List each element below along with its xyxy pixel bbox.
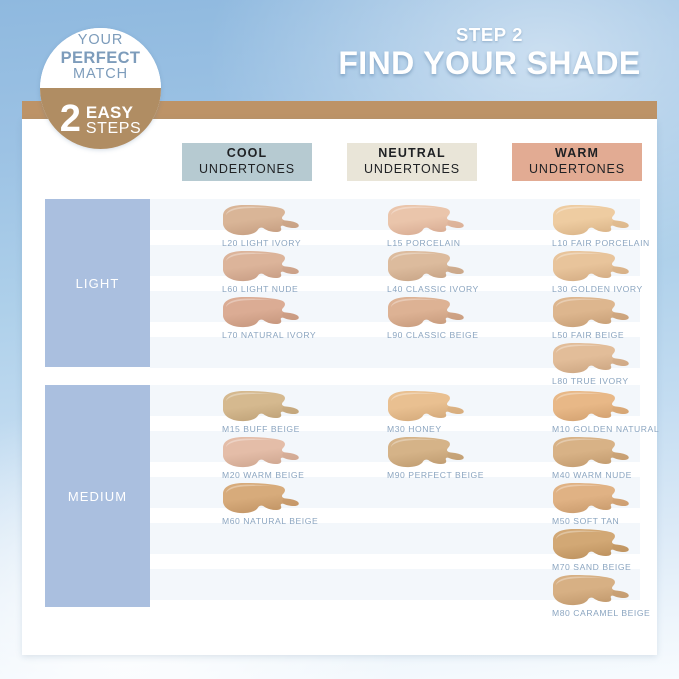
shade-cell-l20[interactable]: L20 LIGHT IVORY [212,204,362,248]
column-header-neutral: NEUTRALUNDERTONES [347,143,477,181]
foundation-swatch-shape [385,296,477,329]
shade-cell-m90[interactable]: M90 PERFECT BEIGE [377,436,527,480]
shade-label: L70 NATURAL IVORY [222,330,362,340]
swatch-m40 [550,436,642,469]
shade-cell-m70[interactable]: M70 SAND BEIGE [542,528,679,572]
swatch-l50 [550,296,642,329]
shade-cell-l10[interactable]: L10 FAIR PORCELAIN [542,204,679,248]
badge-line-steps: STEPS [86,121,141,137]
swatch-m30 [385,390,477,423]
shade-label: L90 CLASSIC BEIGE [387,330,527,340]
foundation-swatch-shape [385,390,477,423]
swatch-m15 [220,390,312,423]
column-header-sub: UNDERTONES [529,162,625,178]
foundation-swatch-shape [385,250,477,283]
swatch-l40 [385,250,477,283]
swatch-l60 [220,250,312,283]
shade-label: L50 FAIR BEIGE [552,330,679,340]
shade-label: M80 CARAMEL BEIGE [552,608,679,618]
shade-label: M60 NATURAL BEIGE [222,516,362,526]
swatch-l80 [550,342,642,375]
swatch-l70 [220,296,312,329]
column-header-cool: COOLUNDERTONES [182,143,312,181]
shade-label: M40 WARM NUDE [552,470,679,480]
swatch-m80 [550,574,642,607]
swatch-l90 [385,296,477,329]
shade-cell-l50[interactable]: L50 FAIR BEIGE [542,296,679,340]
shade-cell-l60[interactable]: L60 LIGHT NUDE [212,250,362,294]
shade-label: M15 BUFF BEIGE [222,424,362,434]
shade-cell-l90[interactable]: L90 CLASSIC BEIGE [377,296,527,340]
foundation-swatch-shape [550,436,642,469]
column-header-warm: WARMUNDERTONES [512,143,642,181]
shade-cell-l40[interactable]: L40 CLASSIC IVORY [377,250,527,294]
column-header-name: WARM [555,146,599,162]
shade-cell-m30[interactable]: M30 HONEY [377,390,527,434]
shade-label: M10 GOLDEN NATURAL [552,424,679,434]
shade-label: L30 GOLDEN IVORY [552,284,679,294]
column-header-name: COOL [227,146,268,162]
shade-label: M70 SAND BEIGE [552,562,679,572]
swatch-m70 [550,528,642,561]
shade-cell-l30[interactable]: L30 GOLDEN IVORY [542,250,679,294]
group-panel-medium: MEDIUM [45,385,150,607]
shade-cell-m10[interactable]: M10 GOLDEN NATURAL [542,390,679,434]
shade-label: L40 CLASSIC IVORY [387,284,527,294]
swatch-m10 [550,390,642,423]
foundation-swatch-shape [550,574,642,607]
shade-cell-m15[interactable]: M15 BUFF BEIGE [212,390,362,434]
badge-line-match: MATCH [73,67,128,83]
shade-label: L10 FAIR PORCELAIN [552,238,679,248]
foundation-swatch-shape [385,204,477,237]
group-panel-light: LIGHT [45,199,150,367]
badge-steps-stack: EASY STEPS [86,102,141,138]
foundation-swatch-shape [550,528,642,561]
shade-cell-l15[interactable]: L15 PORCELAIN [377,204,527,248]
shade-label: M20 WARM BEIGE [222,470,362,480]
swatch-m50 [550,482,642,515]
foundation-swatch-shape [220,482,312,515]
foundation-swatch-shape [550,482,642,515]
shade-cell-m60[interactable]: M60 NATURAL BEIGE [212,482,362,526]
foundation-swatch-shape [220,204,312,237]
foundation-swatch-shape [550,342,642,375]
foundation-swatch-shape [385,436,477,469]
shade-label: M30 HONEY [387,424,527,434]
swatch-l10 [550,204,642,237]
swatch-m20 [220,436,312,469]
group-label: MEDIUM [68,489,127,504]
column-header-name: NEUTRAL [378,146,445,162]
foundation-swatch-shape [550,250,642,283]
swatch-m90 [385,436,477,469]
shade-label: L15 PORCELAIN [387,238,527,248]
badge-top: YOUR PERFECT MATCH [40,28,161,88]
swatch-l15 [385,204,477,237]
column-header-sub: UNDERTONES [364,162,460,178]
shade-label: L80 TRUE IVORY [552,376,679,386]
perfect-match-badge: YOUR PERFECT MATCH 2 EASY STEPS [40,28,161,149]
column-header-sub: UNDERTONES [199,162,295,178]
shade-cell-m20[interactable]: M20 WARM BEIGE [212,436,362,480]
shade-cell-l70[interactable]: L70 NATURAL IVORY [212,296,362,340]
shade-label: M90 PERFECT BEIGE [387,470,527,480]
badge-line-easy: EASY [86,104,141,121]
badge-line-your: YOUR [78,33,124,49]
shade-cell-l80[interactable]: L80 TRUE IVORY [542,342,679,386]
foundation-swatch-shape [220,390,312,423]
foundation-swatch-shape [550,204,642,237]
foundation-swatch-shape [550,390,642,423]
shade-label: L20 LIGHT IVORY [222,238,362,248]
shade-label: M50 SOFT TAN [552,516,679,526]
shade-label: L60 LIGHT NUDE [222,284,362,294]
foundation-swatch-shape [220,436,312,469]
shade-cell-m40[interactable]: M40 WARM NUDE [542,436,679,480]
shade-cell-m80[interactable]: M80 CARAMEL BEIGE [542,574,679,618]
swatch-l30 [550,250,642,283]
foundation-swatch-shape [220,296,312,329]
foundation-swatch-shape [220,250,312,283]
badge-bottom: 2 EASY STEPS [40,88,161,149]
swatch-l20 [220,204,312,237]
swatch-m60 [220,482,312,515]
badge-number: 2 [60,103,81,135]
badge-line-perfect: PERFECT [61,49,141,67]
group-label: LIGHT [76,276,120,291]
shade-cell-m50[interactable]: M50 SOFT TAN [542,482,679,526]
foundation-swatch-shape [550,296,642,329]
